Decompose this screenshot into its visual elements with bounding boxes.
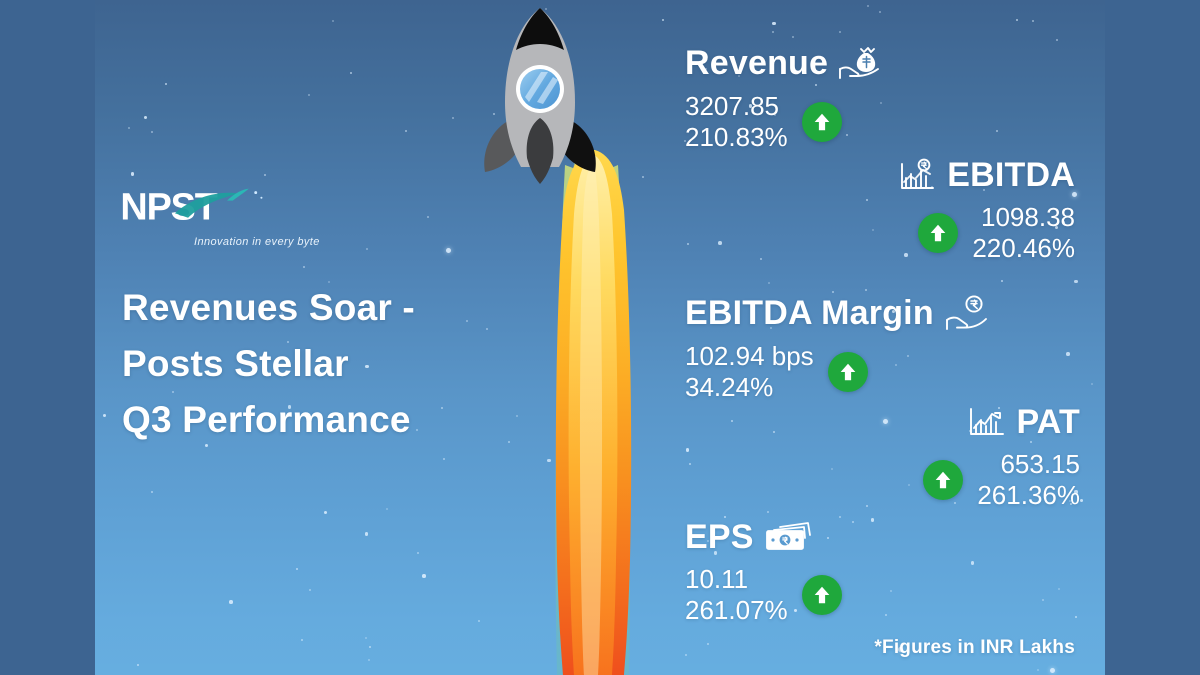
metric-pat-body: 653.15 261.36% <box>805 449 1080 511</box>
metric-ebitda-margin-title: EBITDA Margin <box>685 295 988 331</box>
metric-ebitda-value: 1098.38 <box>972 202 1075 233</box>
rocket-icon <box>465 0 615 190</box>
metric-ebitda-margin-trend-badge <box>828 352 868 392</box>
page-title: Revenues Soar - Posts Stellar Q3 Perform… <box>122 280 522 449</box>
metric-eps-value: 10.11 <box>685 564 788 595</box>
metric-ebitda-margin-value: 102.94 bps <box>685 341 814 372</box>
metric-eps-change: 261.07% <box>685 595 788 626</box>
money-bag-in-hand-icon <box>838 45 880 81</box>
brand-wordmark: NPST <box>120 188 217 229</box>
bar-chart-rupee-icon <box>899 158 937 192</box>
metric-eps-body: 10.11 261.07% <box>685 564 842 626</box>
arrow-up-icon <box>837 361 859 383</box>
metric-revenue-title: Revenue <box>685 45 880 81</box>
arrow-up-icon <box>811 584 833 606</box>
footnote: *Figures in INR Lakhs <box>874 637 1075 659</box>
arrow-up-icon <box>811 111 833 133</box>
metric-revenue-value: 3207.85 <box>685 91 788 122</box>
metric-ebitda-label: EBITDA <box>947 158 1075 192</box>
banknotes-rupee-icon <box>764 521 812 553</box>
metric-pat-change: 261.36% <box>977 480 1080 511</box>
poster-canvas: NPST Innovation in every byte Revenues S… <box>95 0 1105 675</box>
brand-logo: NPST Innovation in every byte <box>120 188 450 248</box>
metric-revenue-change: 210.83% <box>685 122 788 153</box>
metric-pat-label: PAT <box>1016 405 1080 439</box>
npst-swoosh-logo: NPST <box>120 188 310 235</box>
metric-eps-values: 10.11 261.07% <box>685 564 788 626</box>
arrow-up-icon <box>932 469 954 491</box>
metric-revenue: Revenue 3207.85 210.83% <box>685 45 880 153</box>
metric-ebitda-margin-label: EBITDA Margin <box>685 296 934 330</box>
metric-ebitda-margin-body: 102.94 bps 34.24% <box>685 341 988 403</box>
metric-ebitda-margin-values: 102.94 bps 34.24% <box>685 341 814 403</box>
metric-revenue-label: Revenue <box>685 46 828 80</box>
letterbox-right <box>1105 0 1200 675</box>
bar-chart-trend-icon <box>968 406 1006 438</box>
metric-pat-value: 653.15 <box>977 449 1080 480</box>
metric-eps-label: EPS <box>685 520 754 554</box>
metric-ebitda-values: 1098.38 220.46% <box>972 202 1075 264</box>
metric-eps-title: EPS <box>685 520 842 554</box>
letterbox-left <box>0 0 95 675</box>
brand-tagline: Innovation in every byte <box>194 236 450 248</box>
metric-pat-trend-badge <box>923 460 963 500</box>
headline-line-2: Posts Stellar <box>122 336 522 392</box>
metric-ebitda-title: EBITDA <box>795 158 1075 192</box>
metric-eps-trend-badge <box>802 575 842 615</box>
metric-ebitda: EBITDA 1098.38 220.46% <box>795 158 1075 264</box>
metric-pat-title: PAT <box>805 405 1080 439</box>
metric-ebitda-change: 220.46% <box>972 233 1075 264</box>
metric-revenue-body: 3207.85 210.83% <box>685 91 880 153</box>
metric-revenue-values: 3207.85 210.83% <box>685 91 788 153</box>
headline-line-1: Revenues Soar - <box>122 280 522 336</box>
metric-pat: PAT 653.15 261.36% <box>805 405 1080 511</box>
metric-ebitda-margin: EBITDA Margin 102.94 bps 34.24% <box>685 295 988 403</box>
hand-rupee-coin-icon <box>944 295 988 331</box>
infographic-poster: NPST Innovation in every byte Revenues S… <box>0 0 1200 675</box>
metric-ebitda-trend-badge <box>918 213 958 253</box>
headline-line-3: Q3 Performance <box>122 392 522 448</box>
metric-ebitda-body: 1098.38 220.46% <box>795 202 1075 264</box>
metric-eps: EPS 10.11 261.07% <box>685 520 842 626</box>
metric-revenue-trend-badge <box>802 102 842 142</box>
metric-ebitda-margin-change: 34.24% <box>685 372 814 403</box>
arrow-up-icon <box>927 222 949 244</box>
metric-pat-values: 653.15 261.36% <box>977 449 1080 511</box>
